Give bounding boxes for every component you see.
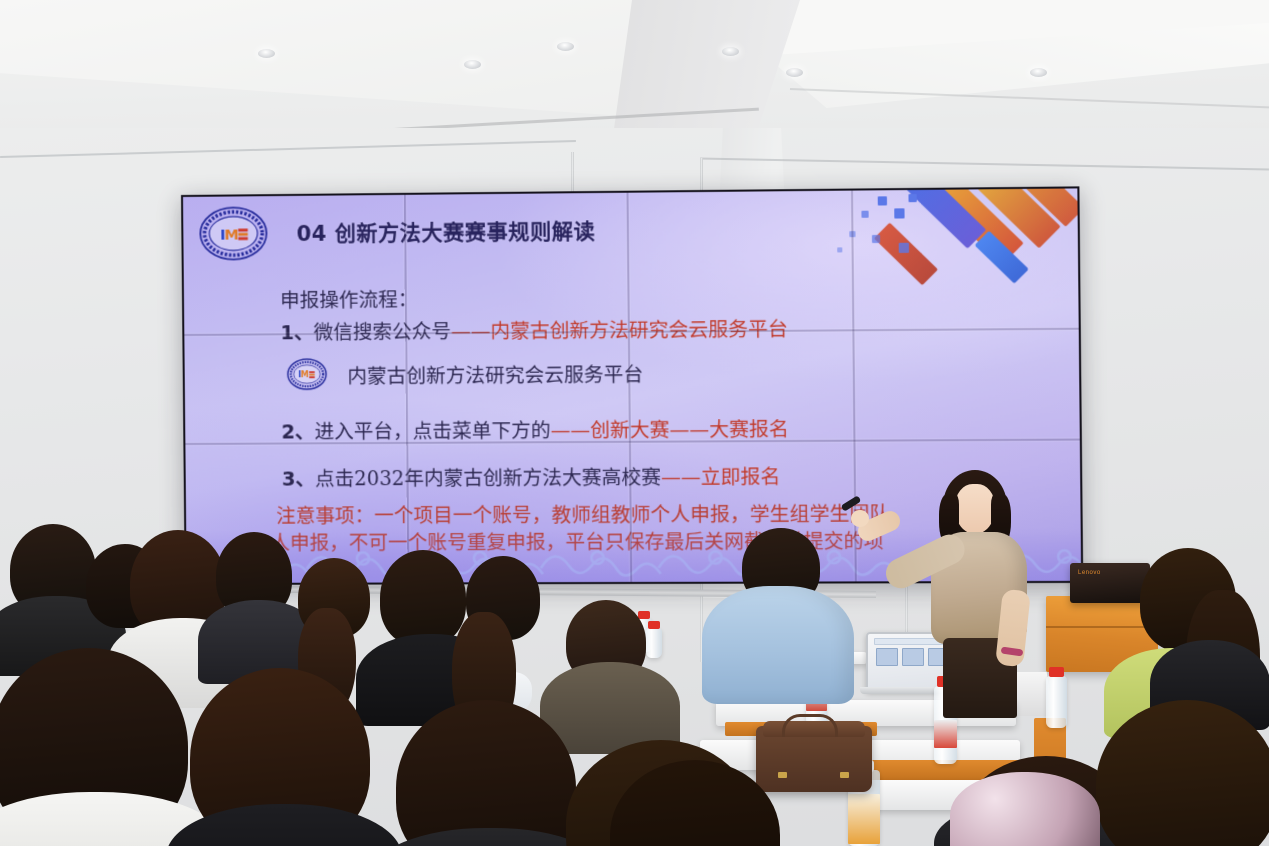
slide-step-3: 3、点击2032年内蒙古创新方法大赛高校赛——立即报名 <box>282 460 781 491</box>
audience-shoulders <box>950 772 1100 846</box>
deco-pixel <box>908 194 916 202</box>
step-1-text: 微信搜索公众号 <box>314 320 452 344</box>
presenter-face <box>955 484 995 534</box>
downlight-icon <box>786 68 803 77</box>
presenter <box>903 470 1053 720</box>
deco-pixel <box>837 247 842 252</box>
step-2-number: 2、 <box>281 420 314 443</box>
deco-bar-red <box>874 223 938 286</box>
notice-text-1: 一个项目一个账号，教师组教师个人申报，学生组学生团队 <box>374 502 890 527</box>
step-1-highlight: ——内蒙古创新方法研究会云服务平台 <box>451 318 788 344</box>
svg-text:M: M <box>224 227 238 243</box>
cabinet-seam <box>1046 626 1158 628</box>
step-3-number: 3、 <box>282 467 315 490</box>
deco-pixel <box>861 211 868 218</box>
downlight-icon <box>557 42 574 51</box>
deco-pixel <box>899 243 909 253</box>
step-2-text: 进入平台，点击菜单下方的 <box>315 419 551 443</box>
deco-pixel <box>894 208 904 218</box>
lenovo-monitor[interactable]: Lenovo <box>1070 563 1150 603</box>
deco-pixel <box>849 231 855 237</box>
bottle-cap <box>638 611 650 619</box>
svg-text:M: M <box>301 370 309 379</box>
bag-clasp <box>840 772 849 778</box>
bag-clasp <box>778 772 787 778</box>
bag-handle <box>782 714 838 737</box>
downlight-icon <box>722 47 739 56</box>
slide-title: 04 创新方法大赛赛事规则解读 <box>296 215 595 248</box>
audience-blue-shirt <box>702 586 854 704</box>
audience-head <box>380 550 466 646</box>
step-2-highlight: ——创新大赛——大赛报名 <box>551 418 789 442</box>
deco-pixel <box>878 196 887 205</box>
step-1-number: 1、 <box>280 321 313 344</box>
deco-pixel <box>872 235 880 243</box>
step-3-text: 点击2032年内蒙古创新方法大赛高校赛 <box>315 466 661 491</box>
bottle-cap <box>648 621 660 629</box>
laptop-slide-tile <box>876 648 898 666</box>
slide-intro-line: 申报操作流程： <box>280 283 418 313</box>
downlight-icon <box>258 49 275 58</box>
ims-logo-icon: I M <box>285 356 330 392</box>
classroom-photo-scene: I M 04 创新方法大赛赛事规则解读 申报操作流程： 1、微信搜索公众号——内… <box>0 0 1269 846</box>
downlight-icon <box>464 60 481 69</box>
slide-step-2: 2、进入平台，点击菜单下方的——创新大赛——大赛报名 <box>281 413 789 445</box>
slide-decoration-graphic <box>837 188 1082 296</box>
water-bottle[interactable] <box>646 628 662 658</box>
account-platform-label: 内蒙古创新方法研究会云服务平台 <box>347 363 643 388</box>
slide-step-1: 1、微信搜索公众号——内蒙古创新方法研究会云服务平台 <box>280 313 788 346</box>
slide-account-row: I M 内蒙古创新方法研究会云服务平台 <box>285 354 644 392</box>
bottle-label <box>934 720 957 748</box>
step-3-highlight: ——立即报名 <box>661 465 781 489</box>
bottle-label <box>848 794 880 844</box>
downlight-icon <box>1030 68 1047 77</box>
presenter-hand <box>851 510 869 527</box>
monitor-brand-label: Lenovo <box>1078 570 1101 576</box>
ims-logo-icon: I M <box>197 204 270 263</box>
notice-heading: 注意事项： <box>276 504 374 527</box>
